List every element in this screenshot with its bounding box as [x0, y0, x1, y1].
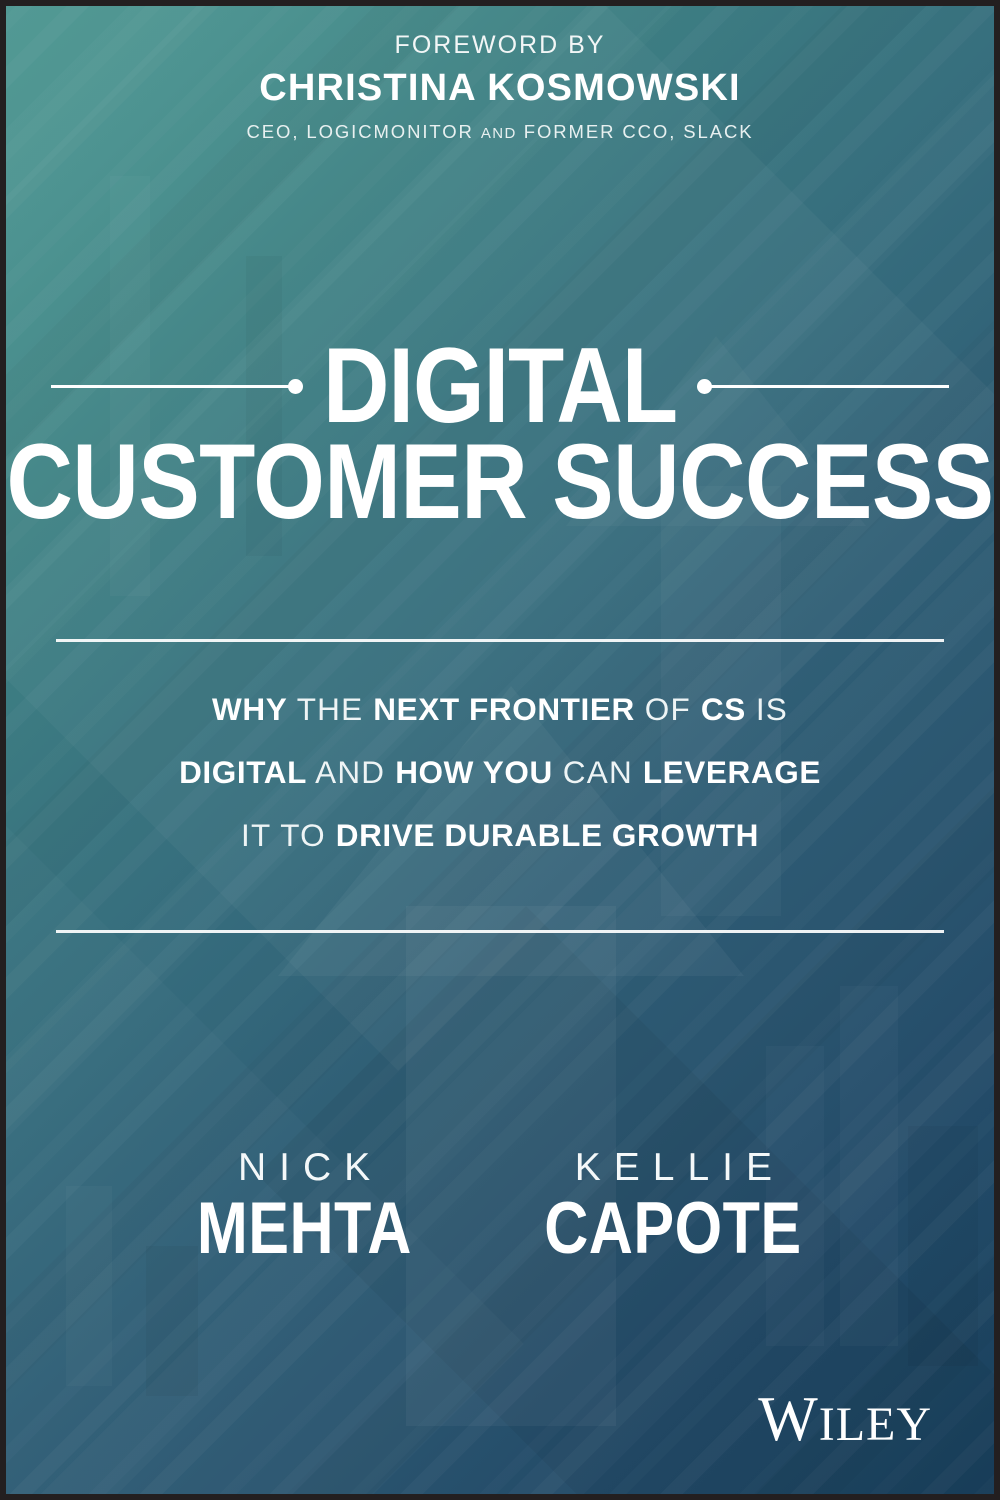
- subtitle-word: CS: [701, 691, 746, 727]
- foreword-role-part1: CEO, LOGICMONITOR: [247, 121, 474, 142]
- subtitle-word: AND: [315, 754, 385, 790]
- publisher-initial: W: [758, 1384, 818, 1454]
- subtitle-word: HOW YOU: [395, 754, 553, 790]
- foreword-author-name: CHRISTINA KOSMOWSKI: [6, 63, 994, 114]
- author-2: KELLIE CAPOTE: [536, 1146, 810, 1264]
- title-rule-left: [51, 385, 301, 388]
- publisher-logo-wiley: WILEY: [758, 1388, 932, 1451]
- subtitle-word: DIGITAL: [179, 754, 307, 790]
- subtitle-word: IT TO: [241, 817, 326, 853]
- title-line-1-row: DIGITAL: [6, 336, 994, 436]
- book-subtitle: WHY THE NEXT FRONTIER OF CS IS DIGITAL A…: [62, 678, 938, 867]
- book-cover: FOREWORD BY CHRISTINA KOSMOWSKI CEO, LOG…: [0, 0, 1000, 1500]
- title-rule-right: [699, 385, 949, 388]
- subtitle-line-3: IT TO DRIVE DURABLE GROWTH: [62, 804, 938, 867]
- foreword-author-role: CEO, LOGICMONITOR AND FORMER CCO, SLACK: [6, 121, 994, 143]
- subtitle-line-2: DIGITAL AND HOW YOU CAN LEVERAGE: [62, 741, 938, 804]
- author-first-name: NICK: [190, 1146, 419, 1190]
- author-last-name: MEHTA: [197, 1187, 412, 1269]
- subtitle-word: LEVERAGE: [643, 754, 821, 790]
- subtitle-word: NEXT FRONTIER: [373, 691, 635, 727]
- cover-content: FOREWORD BY CHRISTINA KOSMOWSKI CEO, LOG…: [6, 6, 994, 1494]
- foreword-by-label: FOREWORD BY: [6, 30, 994, 61]
- subtitle-word: OF: [645, 691, 691, 727]
- foreword-role-conjunction: AND: [481, 125, 517, 142]
- subtitle-word: CAN: [563, 754, 633, 790]
- author-last-name: CAPOTE: [545, 1187, 802, 1269]
- subtitle-rule-bottom: [56, 930, 944, 933]
- foreword-block: FOREWORD BY CHRISTINA KOSMOWSKI CEO, LOG…: [6, 30, 994, 143]
- author-1: NICK MEHTA: [190, 1146, 419, 1264]
- subtitle-word: IS: [756, 691, 788, 727]
- subtitle-line-1: WHY THE NEXT FRONTIER OF CS IS: [62, 678, 938, 741]
- subtitle-word: WHY: [212, 691, 287, 727]
- foreword-role-part2: FORMER CCO, SLACK: [524, 121, 754, 142]
- subtitle-word: DRIVE DURABLE GROWTH: [336, 817, 759, 853]
- author-block: NICK MEHTA KELLIE CAPOTE: [6, 1146, 994, 1264]
- author-first-name: KELLIE: [536, 1146, 810, 1190]
- cover-artboard: FOREWORD BY CHRISTINA KOSMOWSKI CEO, LOG…: [6, 6, 994, 1494]
- publisher-name-rest: ILEY: [819, 1398, 932, 1451]
- book-title-line-2: CUSTOMER SUCCESS: [6, 429, 994, 536]
- subtitle-word: THE: [297, 691, 364, 727]
- subtitle-rule-top: [56, 639, 944, 642]
